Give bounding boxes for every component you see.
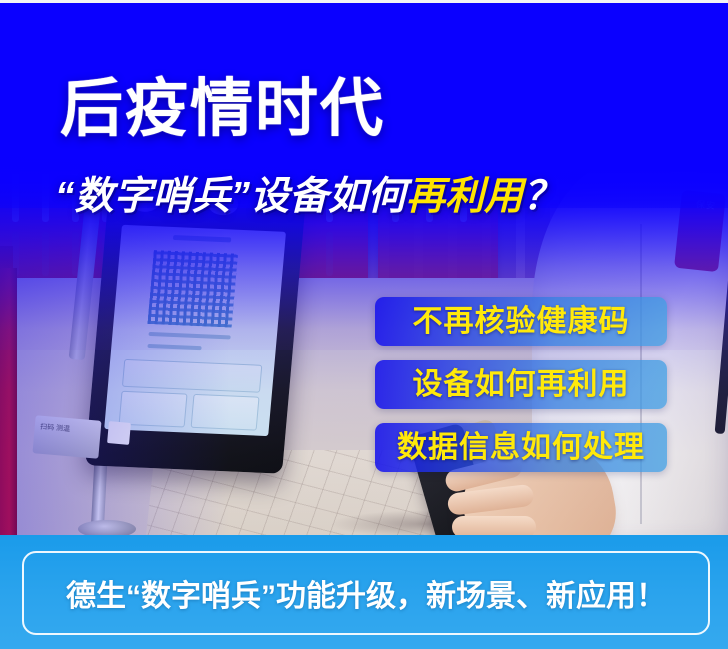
feature-pill-label: 设备如何再利用 xyxy=(413,370,630,400)
feature-pill-list: 不再核验健康码 设备如何再利用 数据信息如何处理 xyxy=(375,297,667,486)
subtitle-tail: ？ xyxy=(523,175,562,218)
scene-kiosk-card-reader xyxy=(32,415,101,459)
feature-pill-label: 不再核验健康码 xyxy=(413,307,630,337)
scene-tablet-screen xyxy=(104,225,286,436)
subtitle-lead: “数字哨兵”设备如何 xyxy=(55,175,406,218)
feature-pill-label: 数据信息如何处理 xyxy=(397,433,645,463)
bottom-banner: 德生“数字哨兵”功能升级，新场景、新应用！ xyxy=(0,535,728,649)
bottom-banner-text: 德生“数字哨兵”功能升级，新场景、新应用！ xyxy=(66,571,666,615)
subtitle-highlight: 再利用 xyxy=(406,175,523,218)
feature-pill[interactable]: 设备如何再利用 xyxy=(375,360,667,409)
top-edge-strip xyxy=(0,0,728,3)
scene-screen-qr-code xyxy=(147,250,237,327)
scene-kiosk-white-tag xyxy=(107,421,131,445)
feature-pill[interactable]: 数据信息如何处理 xyxy=(375,423,667,472)
poster-subtitle: “数字哨兵”设备如何再利用？ xyxy=(55,176,562,219)
feature-pill[interactable]: 不再核验健康码 xyxy=(375,297,667,346)
poster-root: 保安 xyxy=(0,0,728,649)
scene-red-stripe xyxy=(0,268,17,540)
bottom-banner-box: 德生“数字哨兵”功能升级，新场景、新应用！ xyxy=(22,551,710,635)
poster-title: 后疫情时代 xyxy=(60,78,385,141)
